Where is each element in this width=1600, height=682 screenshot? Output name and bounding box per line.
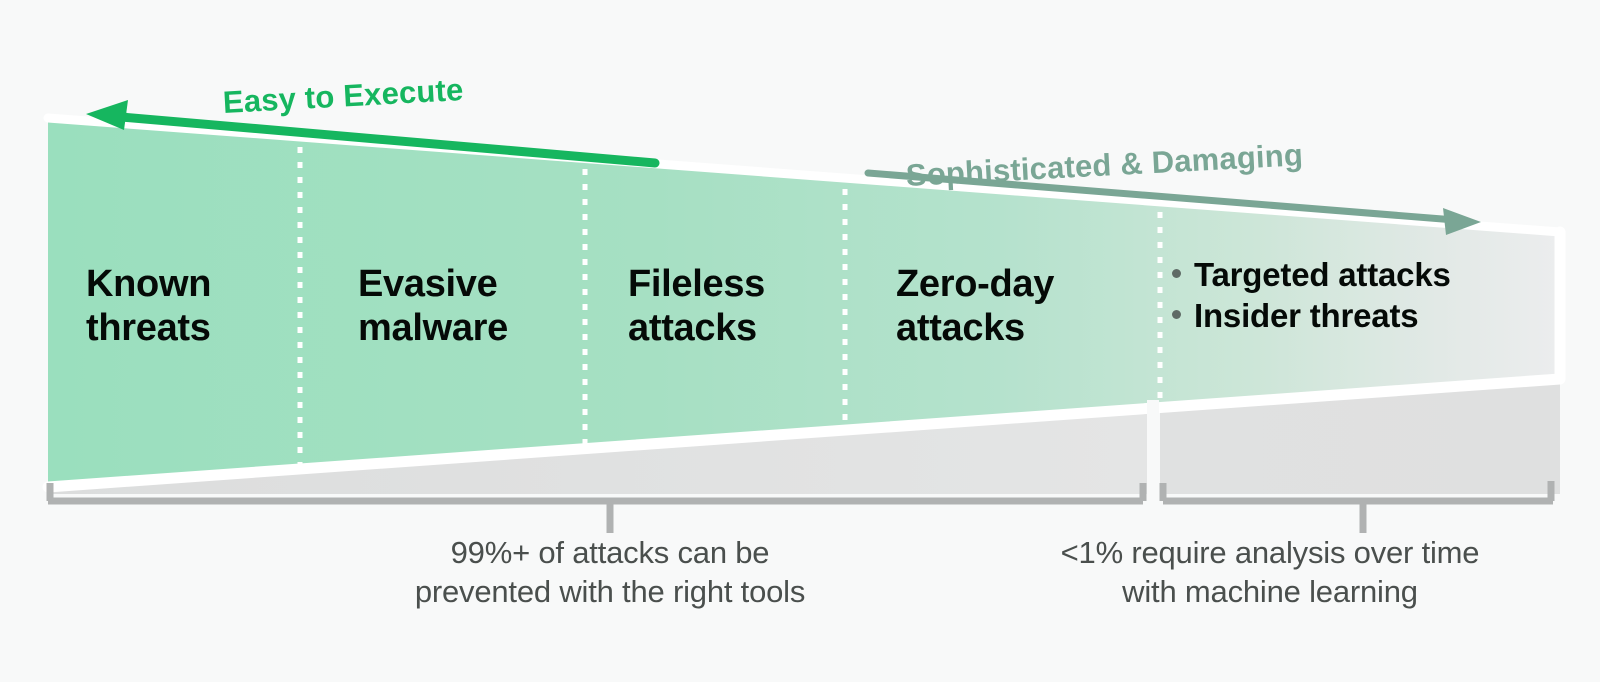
segment-label-known-threats: Known threats (86, 262, 211, 351)
segment-label-fileless-attacks: Fileless attacks (628, 262, 765, 351)
bullet-dot-icon (1172, 269, 1181, 278)
segment-advanced-threats: Targeted attacks Insider threats (1172, 255, 1542, 336)
bullet-label-insider-threats: Insider threats (1194, 296, 1418, 337)
infographic-canvas: Easy to Execute Sophisticated & Damaging… (0, 0, 1600, 682)
segment-label-evasive-malware: Evasive malware (358, 262, 508, 351)
bullet-label-targeted-attacks: Targeted attacks (1194, 255, 1451, 296)
list-item: Targeted attacks (1172, 255, 1542, 296)
list-item: Insider threats (1172, 296, 1542, 337)
segment-label-zero-day-attacks: Zero-day attacks (896, 262, 1054, 351)
bullet-dot-icon (1172, 310, 1181, 319)
caption-machine-learning: <1% require analysis over time with mach… (910, 533, 1600, 611)
